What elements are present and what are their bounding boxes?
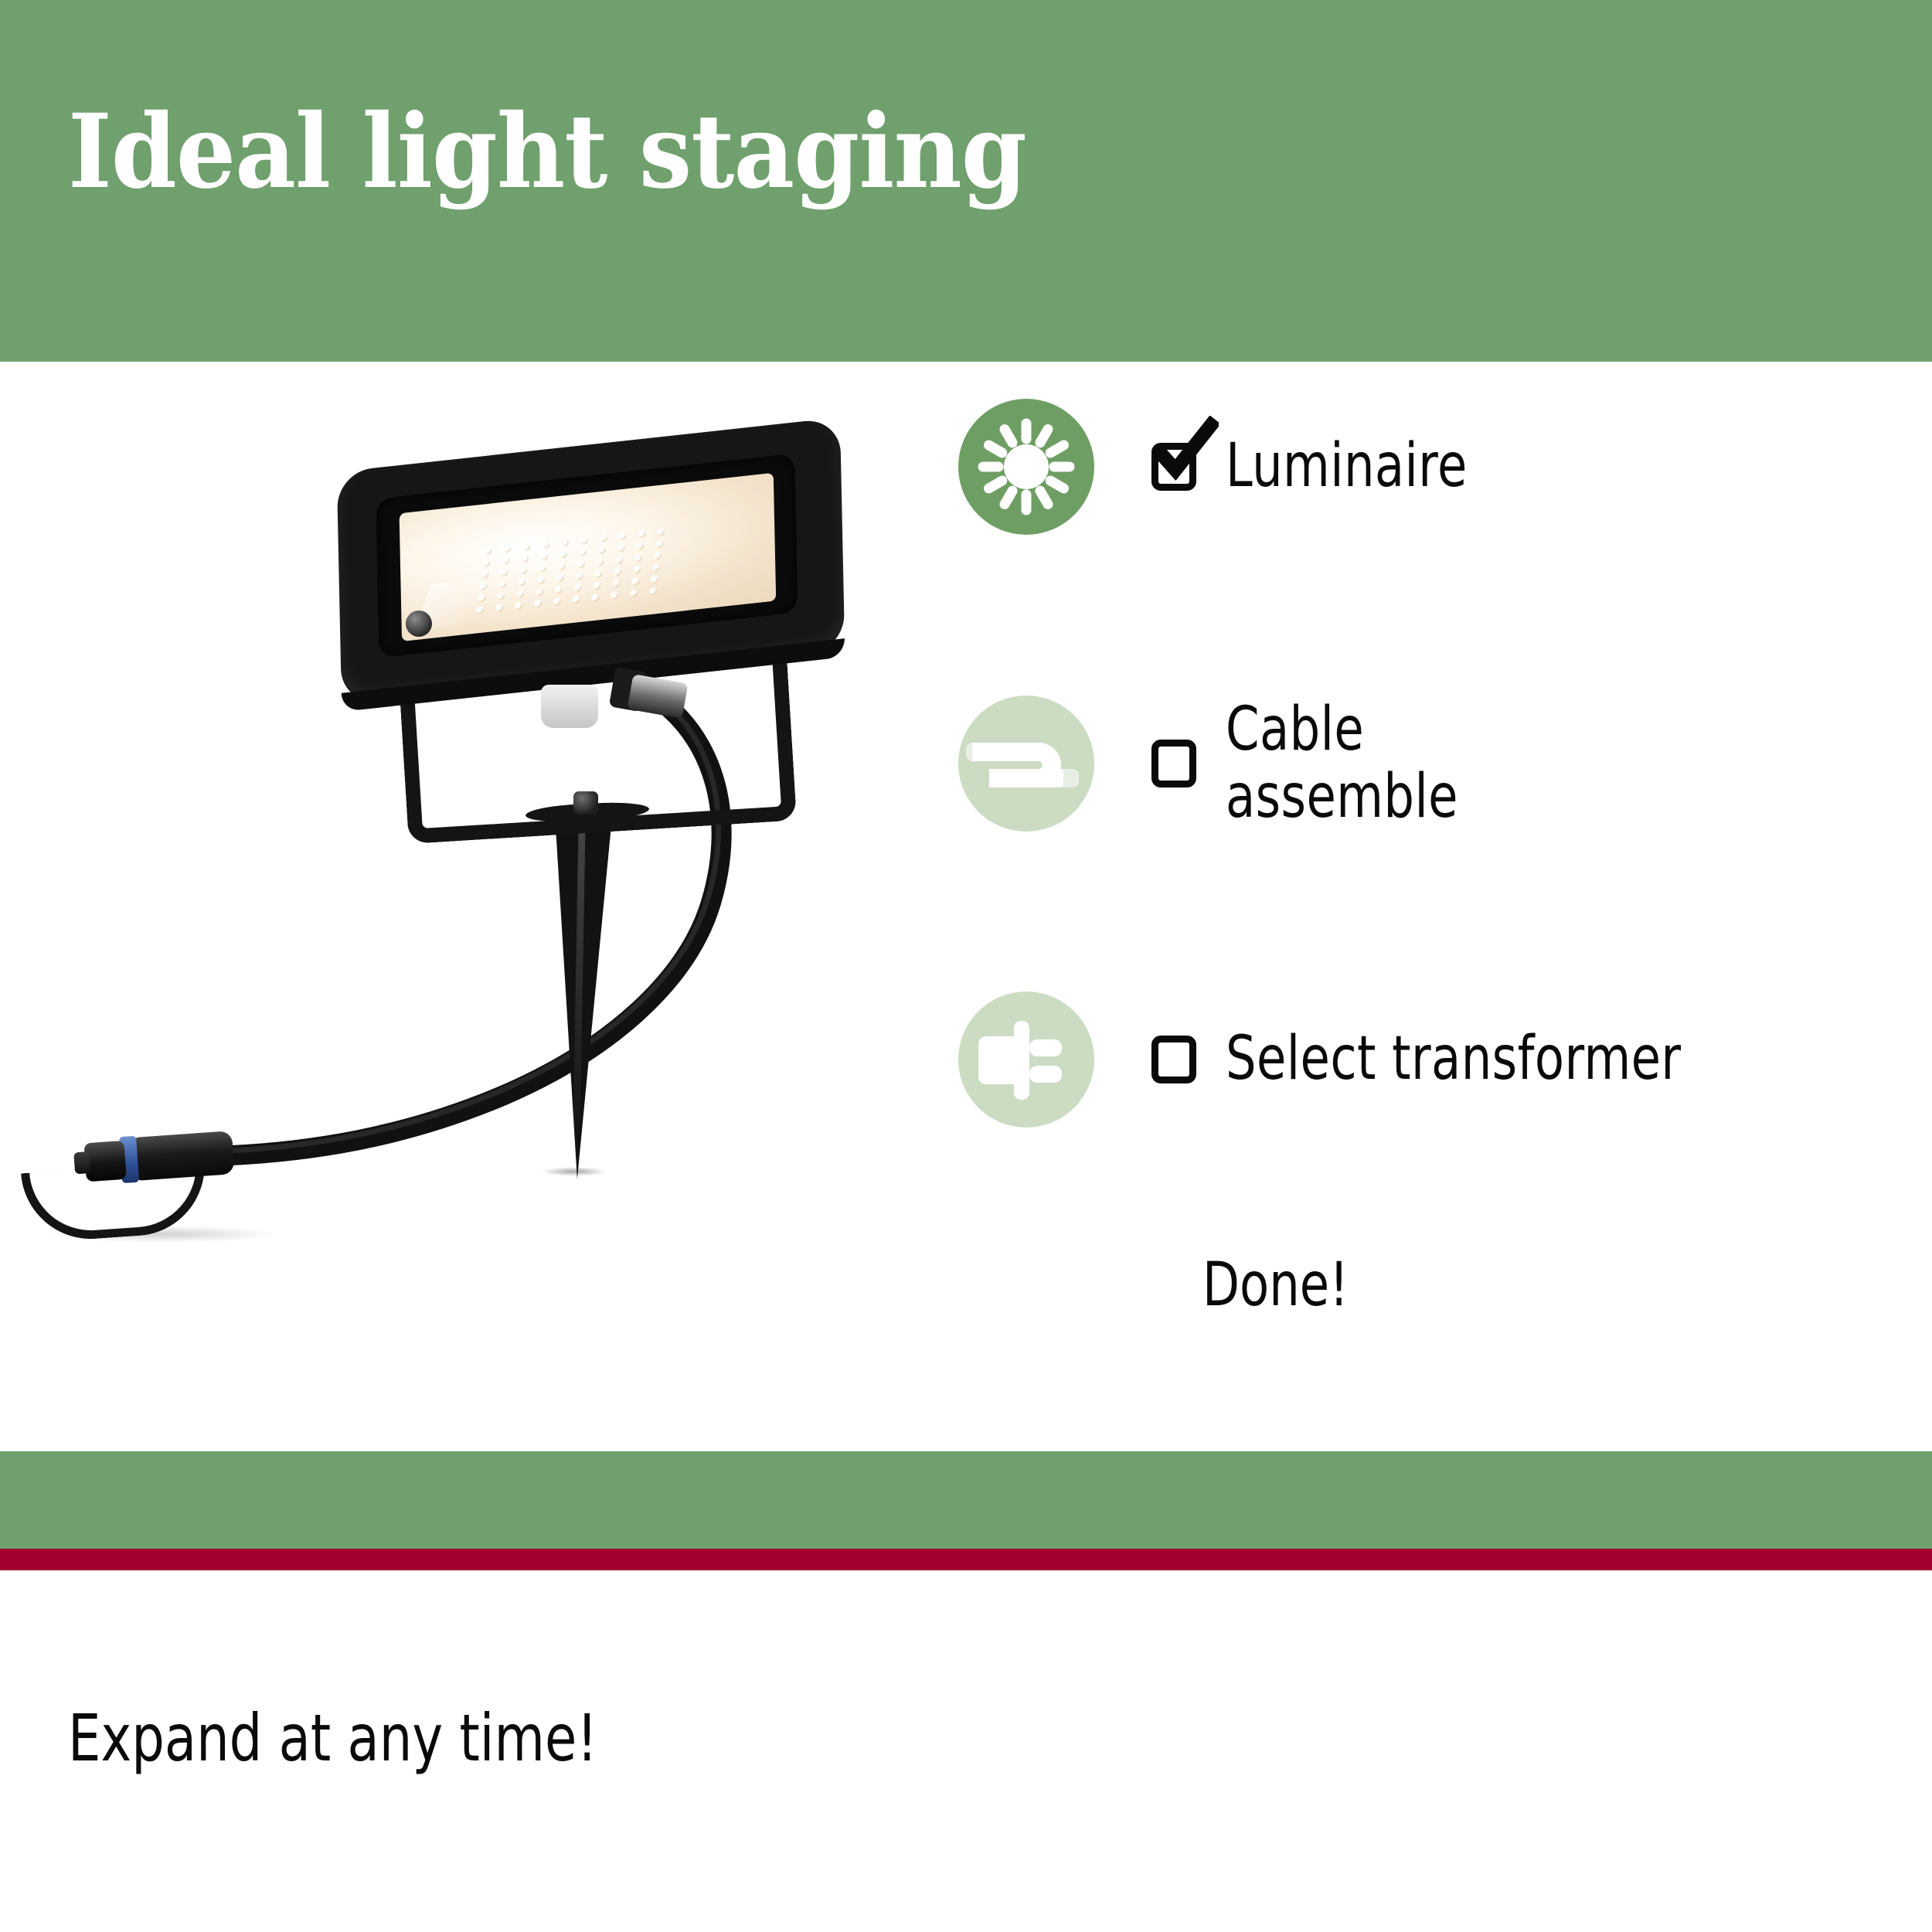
sun-icon [958,399,1094,535]
checklist-item-cable-assemble[interactable]: Cable assemble [958,696,1516,832]
checklist-label-luminaire: Luminaire [1226,433,1468,500]
cable-icon [958,696,1094,832]
checkbox-cable-assemble[interactable] [1151,740,1196,787]
checkbox-select-transformer[interactable] [1151,1036,1196,1083]
sensor-knob [541,685,598,728]
checklist-item-luminaire[interactable]: Luminaire [958,399,1528,535]
checklist-item-select-transformer[interactable]: Select transformer [958,992,1795,1128]
plug-barrel [131,1131,235,1181]
checklist: Luminaire Cable assemble [958,362,1932,1451]
plug-icon [958,992,1094,1128]
footer-green-bar [0,1451,1932,1549]
led-chip-array [469,525,671,618]
checklist-label-cable-assemble: Cable assemble [1226,696,1458,832]
done-text: Done! [1202,1250,1349,1320]
promo-page: Ideal light staging [0,0,1932,1932]
page-title: Ideal light staging [68,99,1026,206]
luminaire-check-group[interactable]: Luminaire [1151,433,1528,500]
check-mark-icon [1152,416,1219,482]
lens-bezel [376,454,798,658]
header-bar: Ideal light staging [0,0,1932,362]
plug-cap [83,1141,126,1182]
content-area: Luminaire Cable assemble [0,362,1932,1451]
footer-red-bar [0,1549,1932,1570]
checklist-label-select-transformer: Select transformer [1226,1026,1682,1093]
footer-caption: Expand at any time! [68,1700,597,1776]
checkbox-luminaire[interactable] [1151,443,1196,491]
product-image [0,362,958,1451]
cable-check-group[interactable]: Cable assemble [1151,696,1516,832]
plug-tip [73,1151,90,1174]
bracket-hinge-screw [406,611,432,637]
led-lens-panel [400,473,777,641]
transformer-check-group[interactable]: Select transformer [1151,1026,1795,1093]
